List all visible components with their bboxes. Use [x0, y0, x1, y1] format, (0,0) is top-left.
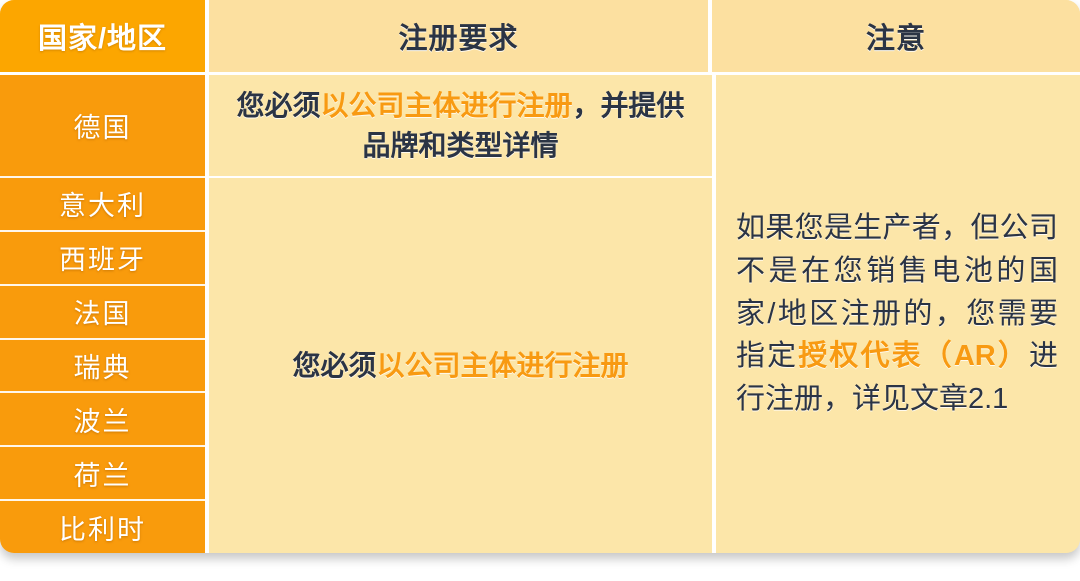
- note-column: 如果您是生产者，但公司不是在您销售电池的国家/地区注册的，您需要指定授权代表（A…: [712, 75, 1080, 553]
- country-label: 比利时: [59, 508, 146, 547]
- country-label: 法国: [74, 292, 132, 331]
- requirement-text-germany: 您必须以公司主体进行注册，并提供品牌和类型详情: [223, 86, 698, 166]
- requirement-text-grouped: 您必须以公司主体进行注册: [292, 346, 628, 386]
- requirement-prefix: 您必须: [236, 90, 320, 121]
- table-row-country-italy: 意大利: [0, 178, 205, 232]
- table-row-country-belgium: 比利时: [0, 501, 205, 553]
- requirement-highlight: 以公司主体进行注册: [320, 90, 572, 121]
- header-label-country: 国家/地区: [38, 15, 167, 57]
- requirement-column: 您必须以公司主体进行注册，并提供品牌和类型详情 您必须以公司主体进行注册: [205, 75, 712, 553]
- registration-requirements-table: 国家/地区 注册要求 注意 德国 意大利 西班牙: [0, 0, 1080, 553]
- table-row-country-poland: 波兰: [0, 393, 205, 447]
- requirement-highlight: 以公司主体进行注册: [377, 350, 629, 381]
- country-label: 瑞典: [74, 346, 132, 385]
- table-row-country-france: 法国: [0, 286, 205, 340]
- country-column: 德国 意大利 西班牙 法国 瑞典 波兰 荷兰: [0, 75, 205, 553]
- table-header-row: 国家/地区 注册要求 注意: [0, 0, 1080, 72]
- requirement-cell-grouped: 您必须以公司主体进行注册: [209, 178, 712, 553]
- requirement-prefix: 您必须: [292, 350, 376, 381]
- table-container: 国家/地区 注册要求 注意 德国 意大利 西班牙: [0, 0, 1080, 581]
- requirement-cell-germany: 您必须以公司主体进行注册，并提供品牌和类型详情: [209, 75, 712, 178]
- table-body: 德国 意大利 西班牙 法国 瑞典 波兰 荷兰: [0, 72, 1080, 553]
- header-cell-note: 注意: [708, 0, 1080, 72]
- country-label: 德国: [74, 106, 132, 145]
- country-label: 荷兰: [74, 454, 132, 493]
- country-label: 波兰: [74, 400, 132, 439]
- header-cell-requirement: 注册要求: [205, 0, 708, 72]
- header-label-requirement: 注册要求: [398, 15, 518, 57]
- note-highlight-authorized-representative: 授权代表（AR）: [798, 340, 1029, 372]
- country-label: 西班牙: [59, 238, 146, 277]
- header-cell-country: 国家/地区: [0, 0, 205, 72]
- table-row-country-spain: 西班牙: [0, 232, 205, 286]
- table-row-country-germany: 德国: [0, 75, 205, 178]
- table-row-country-netherlands: 荷兰: [0, 447, 205, 501]
- note-text: 如果您是生产者，但公司不是在您销售电池的国家/地区注册的，您需要指定授权代表（A…: [736, 207, 1058, 420]
- table-row-country-sweden: 瑞典: [0, 340, 205, 394]
- country-label: 意大利: [59, 184, 146, 223]
- header-label-note: 注意: [866, 15, 926, 57]
